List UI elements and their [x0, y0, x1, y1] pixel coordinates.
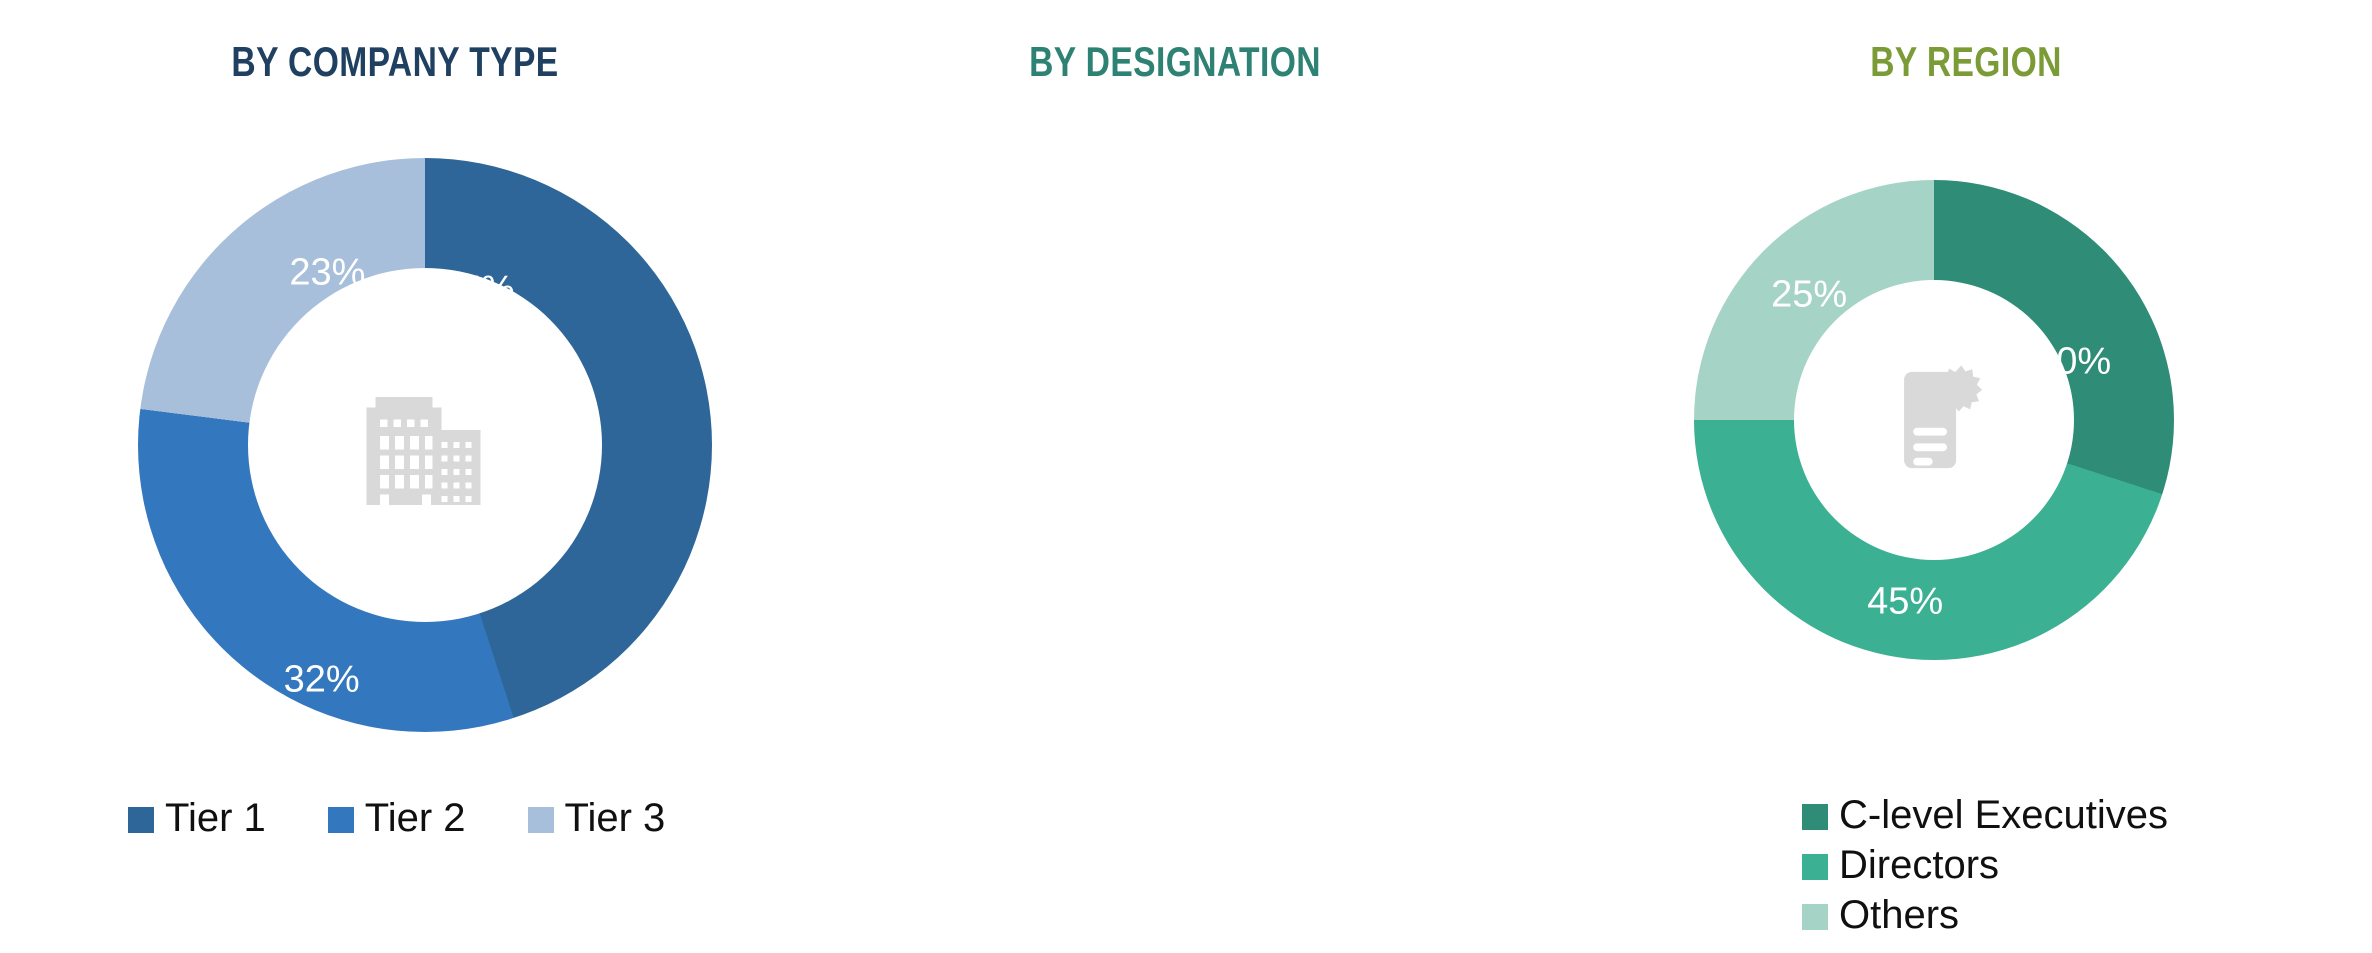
legend-item[interactable]: Tier 3 — [528, 800, 666, 840]
legend-label: Tier 3 — [565, 798, 666, 838]
legend-label: Tier 1 — [165, 798, 266, 838]
slice-label-tier-3: 23% — [289, 251, 365, 294]
legend-label: Tier 2 — [365, 798, 466, 838]
legend-swatch-tier-2 — [328, 807, 354, 833]
chart-panel-region: BY REGION 26% 40% 22% 12% — [1560, 0, 2372, 953]
legend-swatch-tier-3 — [528, 807, 554, 833]
buildings-icon — [350, 370, 500, 520]
legend-item[interactable]: Tier 1 — [128, 800, 266, 840]
chart-panel-company-type: BY COMPANY TYPE — [0, 0, 790, 953]
donut-chart-company-type: 45% 32% 23% — [138, 158, 712, 732]
donut-center-hole — [248, 268, 602, 622]
legend-item[interactable]: Tier 2 — [328, 800, 466, 840]
chart-panel-designation: BY DESIGNATION 30% 45% 25% — [790, 0, 1560, 953]
slice-label-tier-1: 45% — [439, 269, 515, 312]
legend-company-type: Tier 1 Tier 2 Tier 3 — [128, 800, 727, 840]
chart-title-company-type: BY COMPANY TYPE — [79, 38, 711, 86]
chart-title-designation: BY DESIGNATION — [867, 38, 1483, 86]
legend-swatch-tier-1 — [128, 807, 154, 833]
chart-title-region: BY REGION — [1641, 38, 2291, 86]
slice-label-tier-2: 32% — [284, 659, 360, 702]
